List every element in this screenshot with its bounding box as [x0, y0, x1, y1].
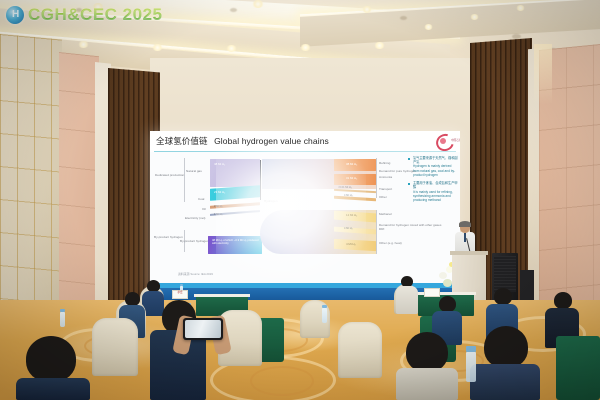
bottle-cap — [322, 305, 327, 308]
water-bottle — [322, 308, 327, 323]
sankey-value-ammonia: 31 Mt H₂ — [346, 176, 357, 180]
sankey-value-dri: 4 Mt H₂ — [344, 227, 353, 230]
placard-text: 参会 — [173, 291, 187, 295]
sankey-label-ammonia: Ammonia — [379, 176, 392, 180]
sankey-hydrogen-label: Hydrogen — [264, 200, 277, 204]
sankey-label-other-pure: Other — [379, 196, 387, 200]
chair — [92, 318, 138, 376]
bullet-2-cn: 主要用于炼油、合成氨和生产甲醇 — [413, 181, 458, 189]
smartphone-screen[interactable] — [185, 320, 221, 338]
watermark-text: CGH&CEC 2025 — [28, 5, 163, 25]
logo-letter: H — [12, 9, 19, 21]
slide-logo-text: 中国石化 — [451, 138, 460, 142]
sankey-diagram: Dedicated production By-product hydrogen… — [154, 154, 406, 266]
conference-photo: 全球氢价值链 Global hydrogen value chains 中国石化… — [0, 0, 600, 400]
slide-bullet-list: 氢气主要来源于天然气、煤和副产氢 Hydrogen is mainly deri… — [408, 156, 458, 206]
bottle-cap — [180, 284, 183, 286]
water-bottle — [60, 312, 65, 327]
bullet-2-en: It is mainly used for refining, synthesi… — [413, 190, 458, 203]
bullet-1-en: Hydrogen is mainly derived from natural … — [413, 164, 458, 177]
sankey-value-coal: 23 Mt H₂ — [214, 190, 225, 194]
sankey-label-refining: Refining — [379, 162, 390, 166]
slide-title: 全球氢价值链 Global hydrogen value chains — [156, 135, 329, 147]
sankey-value-byproduct: 48 Mt H₂ of which ~0.3 Mt H₂ produced wi… — [212, 239, 260, 245]
water-bottle — [466, 352, 476, 382]
bullet-1-cn: 氢气主要来源于天然气、煤和副产氢 — [413, 156, 458, 164]
chair-green-cover — [556, 336, 600, 400]
slide-title-en: Global hydrogen value chains — [214, 136, 329, 146]
slide-body: Dedicated production By-product hydrogen… — [150, 152, 460, 291]
attendee-seated — [396, 332, 458, 400]
lectern-top — [450, 251, 488, 255]
left-stone-wall-panel — [59, 52, 99, 334]
table-top — [194, 294, 250, 297]
sankey-flow-other-pure — [334, 196, 376, 202]
name-placard: 参会 — [172, 290, 188, 299]
sinopec-red-circle-logo-icon: 中国石化 — [436, 134, 452, 148]
bottle-cap — [466, 346, 476, 352]
wall-wash-light — [534, 44, 552, 104]
conference-globe-logo-icon: H — [6, 6, 24, 24]
sankey-value-methanol: 12 Mt H₂ — [346, 213, 357, 217]
sankey-value-transport: <0.01 Mt H₂ — [338, 186, 352, 189]
sankey-label-transport: Transport — [379, 188, 392, 192]
sankey-node-byproduct-label: By-product hydrogen — [180, 240, 206, 244]
sankey-group-right-top: Demand for pure hydrogen — [379, 170, 405, 174]
bottle-cap — [60, 309, 65, 312]
slide-title-cn: 全球氢价值链 — [156, 136, 208, 146]
projection-screen: 全球氢价值链 Global hydrogen value chains 中国石化… — [150, 131, 460, 291]
attendee-seated — [396, 276, 418, 314]
sankey-value-electricity: 1 Mt H₂ — [214, 213, 223, 216]
loudspeaker-grill — [494, 256, 516, 292]
loudspeaker-secondary — [520, 270, 534, 304]
slide-bullet-2: 主要用于炼油、合成氨和生产甲醇 It is mainly used for re… — [408, 181, 458, 202]
event-watermark: H CGH&CEC 2025 — [6, 4, 163, 26]
sankey-label-dri: DRI — [379, 228, 384, 232]
slide-bullet-1: 氢气主要来源于天然气、煤和副产氢 Hydrogen is mainly deri… — [408, 156, 458, 177]
slide-source-note: 资料来源 Source: IEA 2019 — [178, 272, 213, 276]
attendee-seated — [470, 326, 540, 400]
sankey-value-other-heat: 4 Mt H₂ — [346, 242, 356, 246]
sankey-value-natural-gas: 48 Mt H₂ — [214, 162, 225, 166]
sankey-label-methanol: Methanol — [379, 213, 392, 217]
slide-title-bar: 全球氢价值链 Global hydrogen value chains 中国石化 — [150, 131, 460, 152]
bullet-square-icon — [408, 183, 410, 185]
chair — [338, 322, 382, 378]
sankey-value-oil: 2 Mt H₂ — [214, 205, 223, 208]
sankey-node-natural-gas-label: Natural gas — [186, 170, 202, 174]
sankey-value-other-pure: 4 Mt H₂ — [344, 194, 353, 197]
sankey-group-left-top: Dedicated production — [155, 174, 183, 178]
bullet-square-icon — [408, 158, 410, 160]
sankey-value-refining: 38 Mt H₂ — [346, 162, 357, 166]
sankey-flow-transport — [334, 189, 376, 193]
sankey-label-other-heat: Other (e.g. heat) — [379, 242, 405, 246]
attendee-seated — [16, 336, 90, 400]
gold-grid-wall-panel — [0, 34, 62, 340]
sankey-node-oil-label: Oil — [202, 208, 206, 212]
sankey-node-electricity-label: Electricity (net) — [185, 217, 205, 221]
sankey-node-coal-label: Coal — [198, 198, 204, 202]
